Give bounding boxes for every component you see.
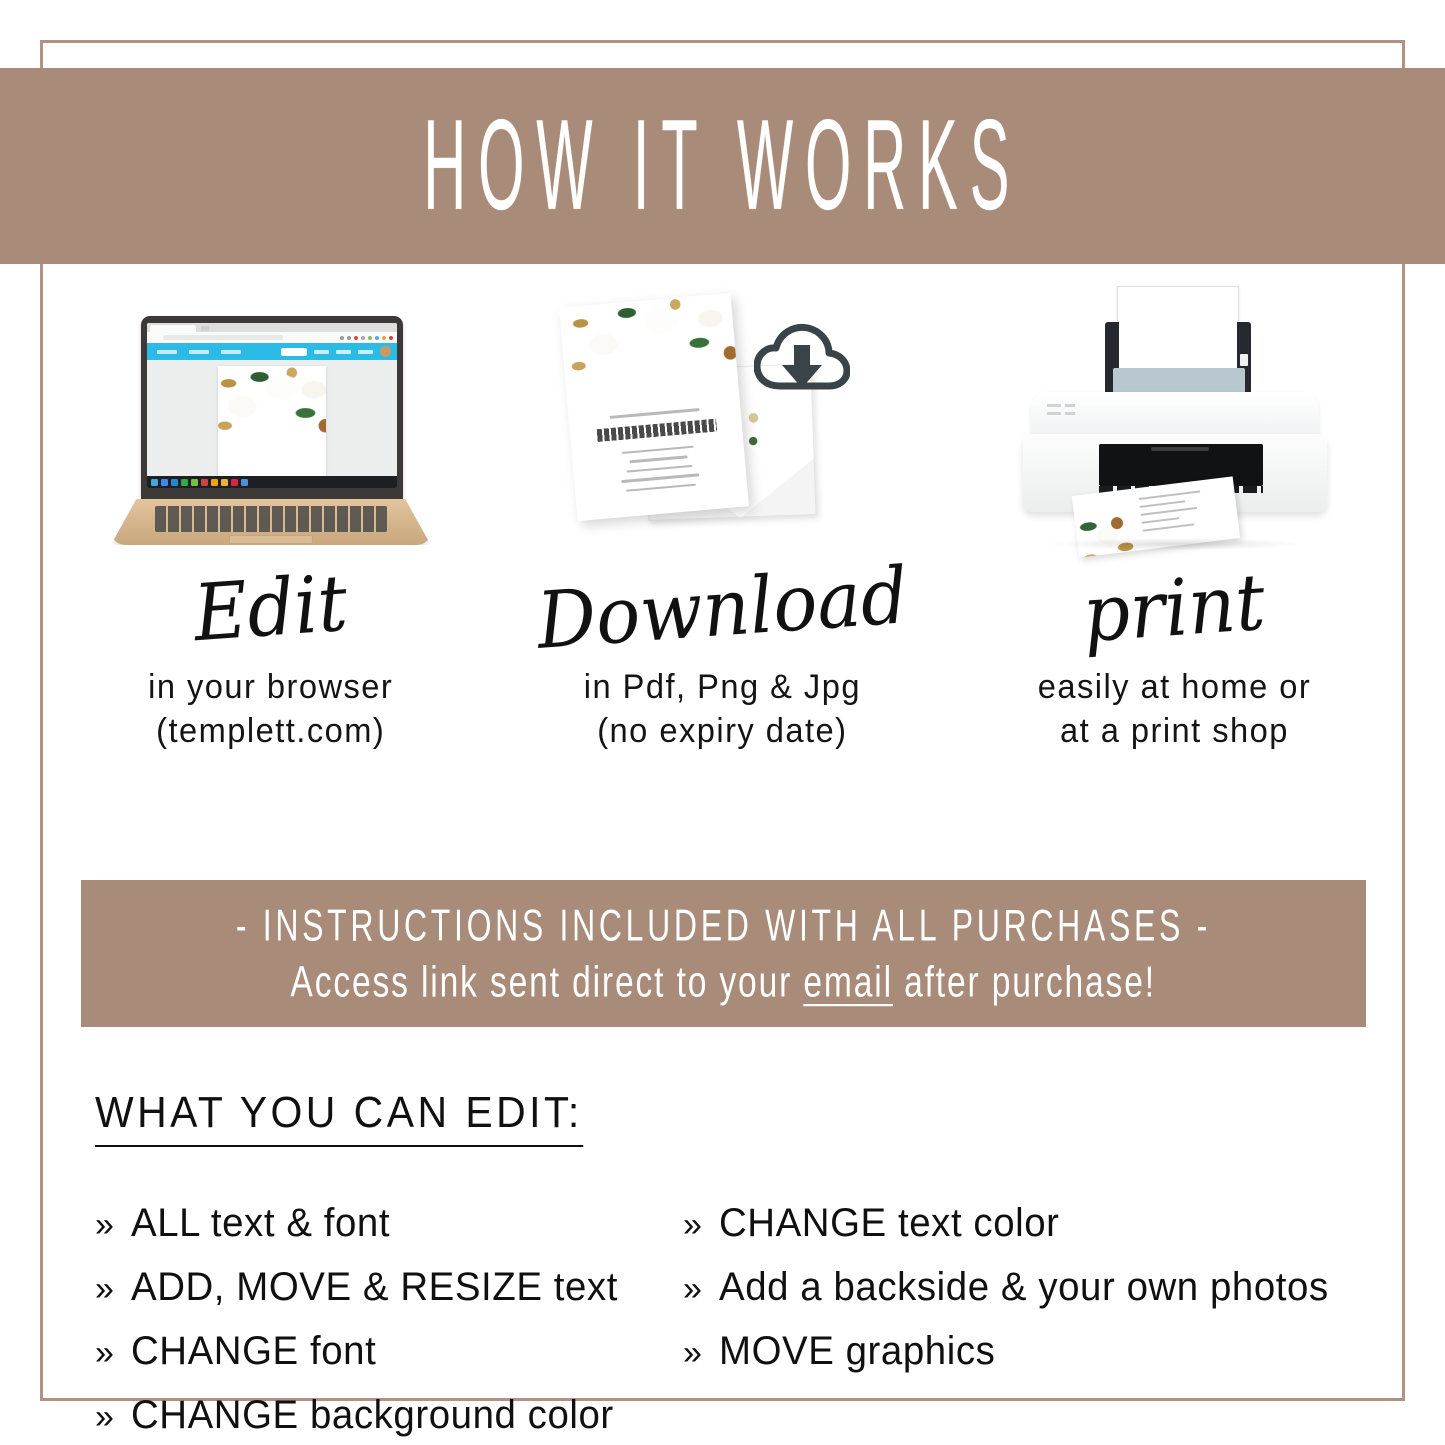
instructions-headline: - INSTRUCTIONS INCLUDED WITH ALL PURCHAS… [236,903,1211,948]
toolbar-search-label[interactable] [336,350,351,354]
step-print: print easily at home or at a print shop [948,276,1400,836]
step-download: Download in Pdf, Png & Jpg (no expiry da… [497,276,949,836]
instructions-subline-before: Access link sent direct to your [291,957,804,1005]
printer-shadow [1049,538,1301,550]
list-item: » ADD, MOVE & RESIZE text [95,1267,683,1307]
what-you-can-edit-section: WHAT YOU CAN EDIT: » ALL text & font » A… [95,1090,1385,1445]
invitation-line [626,483,695,492]
list-item-label: CHANGE background color [131,1395,614,1435]
step-edit: Edit in your browser (templett.com) [45,276,497,836]
toolbar-undo-menu[interactable] [221,350,241,354]
printer-illustration [1009,286,1339,566]
floral-graphic [1072,508,1147,558]
steps-row: Edit in your browser (templett.com) [45,276,1400,836]
instructions-subline: Access link sent direct to your email af… [291,960,1157,1004]
editor-canvas[interactable] [147,360,397,476]
toolbar-help-label[interactable] [358,350,373,354]
chevron-double-right-icon: » [95,1400,115,1434]
chevron-double-right-icon: » [683,1336,703,1370]
list-item-label: Add a backside & your own photos [719,1267,1329,1307]
printed-line [1142,517,1180,524]
laptop-illustration [111,316,431,566]
invitation-line [621,473,699,482]
step-print-artwork [948,276,1400,566]
editor-toolbar[interactable] [147,343,397,360]
list-item: » CHANGE background color [95,1395,683,1435]
invitation-text-block [582,406,733,502]
step-edit-subtitle: in your browser (templett.com) [148,666,393,753]
list-item-label: MOVE graphics [719,1331,995,1371]
edit-feature-columns: » ALL text & font » ADD, MOVE & RESIZE t… [95,1203,1385,1445]
laptop-screen [147,323,397,488]
printer-control-buttons[interactable] [1047,404,1083,426]
invitation-preview[interactable] [218,366,326,479]
floral-graphic [559,293,747,408]
printed-line [1143,523,1194,531]
step-download-subtitle-line1: in Pdf, Png & Jpg [584,666,861,710]
list-item-label: CHANGE text color [719,1203,1060,1243]
chevron-double-right-icon: » [683,1208,703,1242]
browser-url-bar [147,332,397,343]
step-edit-script-label: Edit [192,565,350,654]
list-item-label: ADD, MOVE & RESIZE text [131,1267,618,1307]
invitation-line [621,445,693,454]
invitation-names-script [589,418,722,442]
printer-output-slot [1099,444,1263,486]
instructions-subline-after: after purchase! [893,957,1156,1005]
page-title: HOW IT WORKS [423,102,1021,231]
step-edit-subtitle-line1: in your browser [148,666,393,710]
step-download-subtitle-line2: (no expiry date) [584,710,861,754]
instructions-banner: - INSTRUCTIONS INCLUDED WITH ALL PURCHAS… [81,880,1366,1027]
chevron-double-right-icon: » [95,1208,115,1242]
step-download-subtitle: in Pdf, Png & Jpg (no expiry date) [584,666,861,753]
step-print-subtitle-line1: easily at home or [1037,666,1311,710]
chevron-double-right-icon: » [95,1336,115,1370]
laptop-lid [141,316,403,502]
printed-line [1141,507,1198,516]
edit-section-heading: WHAT YOU CAN EDIT: [95,1090,583,1147]
list-item-label: CHANGE font [131,1331,376,1371]
step-print-script-label: print [1081,564,1268,655]
floral-graphic [218,366,326,466]
list-item: » Add a backside & your own photos [683,1267,1385,1307]
toolbar-download-button[interactable] [281,348,307,356]
invitation-line [609,408,698,418]
printed-line [1139,490,1201,500]
edit-feature-column-left: » ALL text & font » ADD, MOVE & RESIZE t… [95,1203,683,1445]
toolbar-file-menu[interactable] [157,350,177,354]
email-link[interactable]: email [804,957,894,1005]
list-item: » MOVE graphics [683,1331,1385,1371]
step-edit-subtitle-line2: (templett.com) [148,710,393,754]
step-print-subtitle: easily at home or at a print shop [1037,666,1311,753]
printed-line [1140,500,1186,508]
avatar[interactable] [380,346,391,357]
how-it-works-page: HOW IT WORKS [0,0,1445,1445]
invitation-envelope-illustration [558,294,888,566]
toolbar-save-label[interactable] [314,350,329,354]
list-item: » ALL text & font [95,1203,683,1243]
list-item-label: ALL text & font [131,1203,390,1243]
invitation-line [626,464,692,472]
laptop-trackpad [229,535,313,544]
toolbar-right-group [281,346,391,357]
header-banner: HOW IT WORKS [0,68,1445,264]
step-download-artwork [497,276,949,566]
step-edit-artwork [45,276,497,566]
chevron-double-right-icon: » [95,1272,115,1306]
step-download-script-label: Download [535,557,911,661]
invitation-date-line [629,455,687,463]
browser-extension-icons [340,336,393,340]
cloud-download-icon [754,320,850,398]
list-item: » CHANGE text color [683,1203,1385,1243]
invitation-card [559,293,749,521]
printed-text-block [1139,488,1229,538]
step-print-subtitle-line2: at a print shop [1037,710,1311,754]
os-taskbar [147,476,397,488]
laptop-keyboard [155,506,387,532]
toolbar-gallery-menu[interactable] [189,350,209,354]
list-item: » CHANGE font [95,1331,683,1371]
browser-tab-strip [147,323,397,332]
edit-feature-column-right: » CHANGE text color » Add a backside & y… [683,1203,1385,1445]
chevron-double-right-icon: » [683,1272,703,1306]
